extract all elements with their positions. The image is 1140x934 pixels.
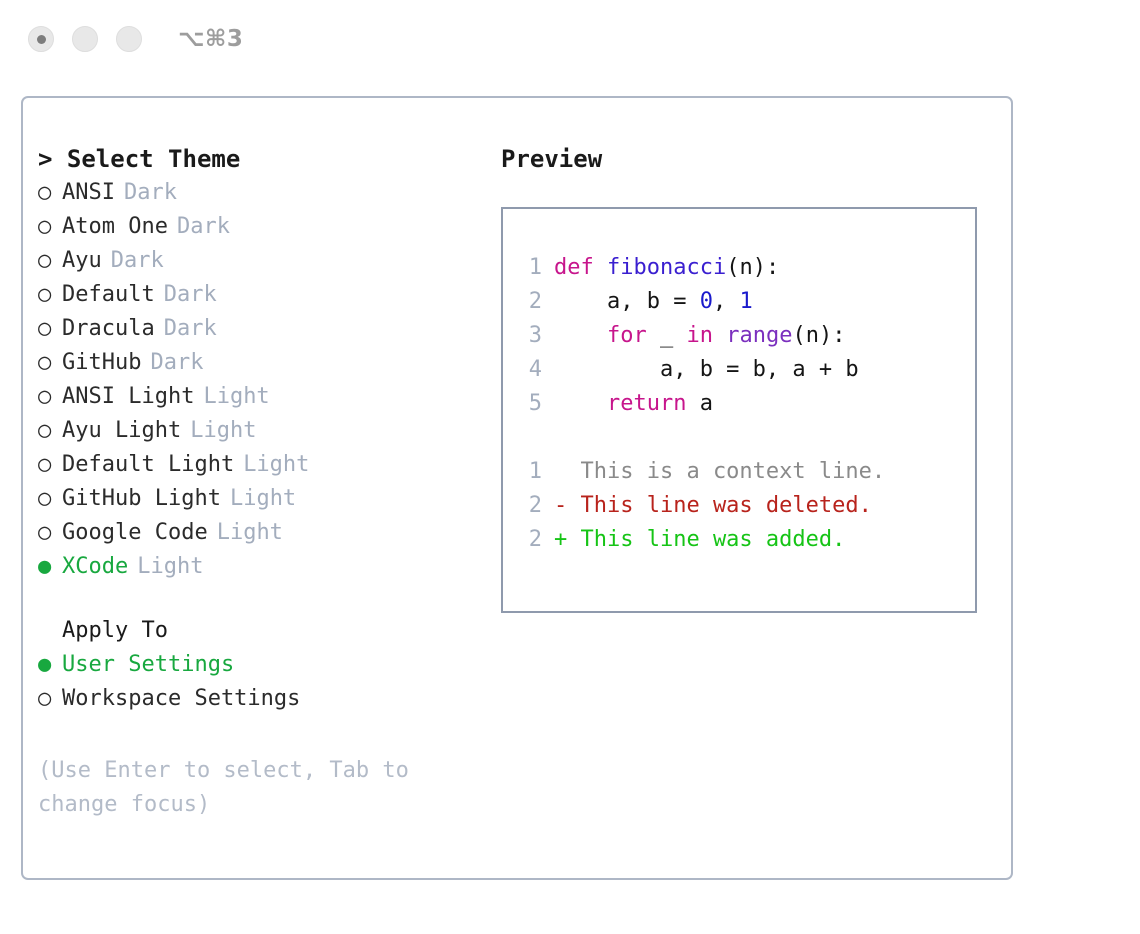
radio-unselected-icon: ○ (38, 682, 62, 716)
apply-to-heading: Apply To (38, 614, 478, 648)
code-token-plain: , (713, 289, 740, 314)
code-token-plain: _ (647, 323, 687, 348)
theme-option-label: Atom One (62, 210, 168, 244)
radio-unselected-icon: ○ (38, 312, 62, 346)
radio-unselected-icon: ○ (38, 380, 62, 414)
theme-option-label: Google Code (62, 516, 208, 550)
preview-column: Preview 1def fibonacci(n):2 a, b = 0, 13… (501, 142, 991, 613)
code-line-number: 2 (516, 285, 542, 319)
diff-line-number: 2 (516, 523, 542, 557)
theme-picker-panel: > Select Theme ○ANSIDark○Atom OneDark○Ay… (21, 96, 1013, 880)
code-line-content: def fibonacci(n): (554, 251, 779, 285)
radio-unselected-icon: ○ (38, 482, 62, 516)
code-line-content: a, b = b, a + b (554, 353, 859, 387)
code-line-number: 3 (516, 319, 542, 353)
theme-option-dracula[interactable]: ○DraculaDark (38, 312, 478, 346)
code-token-fn: fibonacci (607, 255, 726, 280)
theme-option-label: GitHub Light (62, 482, 221, 516)
theme-option-label: Ayu (62, 244, 102, 278)
code-token-plain: a (686, 391, 713, 416)
diff-line-number: 2 (516, 489, 542, 523)
theme-option-label: Ayu Light (62, 414, 181, 448)
theme-option-kind: Dark (164, 312, 217, 346)
window-controls (28, 26, 142, 52)
code-token-plain (713, 323, 726, 348)
theme-option-default[interactable]: ○DefaultDark (38, 278, 478, 312)
theme-option-default-light[interactable]: ○Default LightLight (38, 448, 478, 482)
theme-option-kind: Light (243, 448, 309, 482)
code-token-plain: a, b = b, a + b (554, 357, 859, 382)
code-line-number: 4 (516, 353, 542, 387)
code-token-kw: return (607, 391, 686, 416)
code-line-number: 5 (516, 387, 542, 421)
theme-option-kind: Dark (111, 244, 164, 278)
code-line-number: 1 (516, 251, 542, 285)
keyboard-shortcut-label: ⌥⌘3 (178, 26, 243, 52)
theme-option-kind: Dark (177, 210, 230, 244)
radio-unselected-icon: ○ (38, 516, 62, 550)
theme-option-label: Dracula (62, 312, 155, 346)
theme-list-column: > Select Theme ○ANSIDark○Atom OneDark○Ay… (38, 142, 478, 822)
radio-unselected-icon: ○ (38, 210, 62, 244)
radio-selected-icon: ● (38, 648, 62, 682)
diff-line-content-add: + This line was added. (554, 523, 845, 557)
apply-to-option-workspace-settings[interactable]: ○Workspace Settings (38, 682, 478, 716)
code-token-num: 0 (700, 289, 713, 314)
code-token-plain (554, 323, 607, 348)
radio-unselected-icon: ○ (38, 346, 62, 380)
code-token-kw: for (607, 323, 647, 348)
theme-option-kind: Dark (124, 176, 177, 210)
diff-line: 1 This is a context line. (516, 455, 975, 489)
code-token-num: 1 (739, 289, 752, 314)
code-token-plain (554, 391, 607, 416)
theme-option-kind: Light (190, 414, 256, 448)
radio-unselected-icon: ○ (38, 414, 62, 448)
code-sample: 1def fibonacci(n):2 a, b = 0, 13 for _ i… (516, 251, 975, 421)
theme-option-kind: Light (230, 482, 296, 516)
code-line-content: for _ in range(n): (554, 319, 845, 353)
code-token-kw: def (554, 255, 607, 280)
theme-option-ansi[interactable]: ○ANSIDark (38, 176, 478, 210)
diff-sample: 1 This is a context line.2- This line wa… (516, 455, 975, 557)
radio-unselected-icon: ○ (38, 176, 62, 210)
code-line: 4 a, b = b, a + b (516, 353, 975, 387)
theme-option-kind: Dark (164, 278, 217, 312)
theme-option-label: Default Light (62, 448, 234, 482)
code-line-content: return a (554, 387, 713, 421)
code-line: 3 for _ in range(n): (516, 319, 975, 353)
theme-option-atom-one[interactable]: ○Atom OneDark (38, 210, 478, 244)
window-dot-active-icon[interactable] (28, 26, 54, 52)
theme-option-kind: Dark (150, 346, 203, 380)
theme-option-github-light[interactable]: ○GitHub LightLight (38, 482, 478, 516)
theme-option-label: XCode (62, 550, 128, 584)
code-line: 2 a, b = 0, 1 (516, 285, 975, 319)
app-window: ⌥⌘3 > Select Theme ○ANSIDark○Atom OneDar… (0, 0, 1140, 934)
apply-to-options: ●User Settings○Workspace Settings (38, 648, 478, 716)
theme-option-label: Default (62, 278, 155, 312)
radio-unselected-icon: ○ (38, 448, 62, 482)
diff-line: 2+ This line was added. (516, 523, 975, 557)
code-token-plain: (n): (726, 255, 779, 280)
diff-line-content-ctx: This is a context line. (554, 455, 885, 489)
diff-line-content-del: - This line was deleted. (554, 489, 872, 523)
theme-list: ○ANSIDark○Atom OneDark○AyuDark○DefaultDa… (38, 176, 478, 584)
diff-line-number: 1 (516, 455, 542, 489)
theme-option-ayu-light[interactable]: ○Ayu LightLight (38, 414, 478, 448)
keyboard-hint-text: (Use Enter to select, Tab to change focu… (38, 754, 448, 822)
apply-to-option-user-settings[interactable]: ●User Settings (38, 648, 478, 682)
theme-option-google-code[interactable]: ○Google CodeLight (38, 516, 478, 550)
window-dot-2-icon[interactable] (72, 26, 98, 52)
theme-option-github[interactable]: ○GitHubDark (38, 346, 478, 380)
theme-option-kind: Light (217, 516, 283, 550)
radio-unselected-icon: ○ (38, 244, 62, 278)
radio-unselected-icon: ○ (38, 278, 62, 312)
code-token-plain: a, b = (554, 289, 700, 314)
code-token-builtin: range (726, 323, 792, 348)
theme-option-label: GitHub (62, 346, 141, 380)
code-line: 5 return a (516, 387, 975, 421)
radio-selected-icon: ● (38, 550, 62, 584)
diff-line: 2- This line was deleted. (516, 489, 975, 523)
code-token-plain: (n): (792, 323, 845, 348)
theme-option-label: ANSI (62, 176, 115, 210)
preview-heading: Preview (501, 142, 991, 176)
theme-option-xcode[interactable]: ●XCodeLight (38, 550, 478, 584)
code-line: 1def fibonacci(n): (516, 251, 975, 285)
window-dot-3-icon[interactable] (116, 26, 142, 52)
window-dot-active-inner (37, 35, 46, 44)
apply-to-option-label: Workspace Settings (62, 682, 300, 716)
theme-option-label: ANSI Light (62, 380, 194, 414)
code-line-content: a, b = 0, 1 (554, 285, 753, 319)
theme-option-kind: Light (203, 380, 269, 414)
select-theme-heading: > Select Theme (38, 142, 478, 176)
title-bar: ⌥⌘3 (0, 0, 1140, 78)
apply-to-option-label: User Settings (62, 648, 234, 682)
code-diff-spacer (516, 421, 975, 455)
theme-option-kind: Light (137, 550, 203, 584)
section-spacer (38, 584, 478, 614)
code-preview-box: 1def fibonacci(n):2 a, b = 0, 13 for _ i… (501, 207, 977, 613)
theme-option-ayu[interactable]: ○AyuDark (38, 244, 478, 278)
code-token-kw: in (686, 323, 713, 348)
theme-option-ansi-light[interactable]: ○ANSI LightLight (38, 380, 478, 414)
